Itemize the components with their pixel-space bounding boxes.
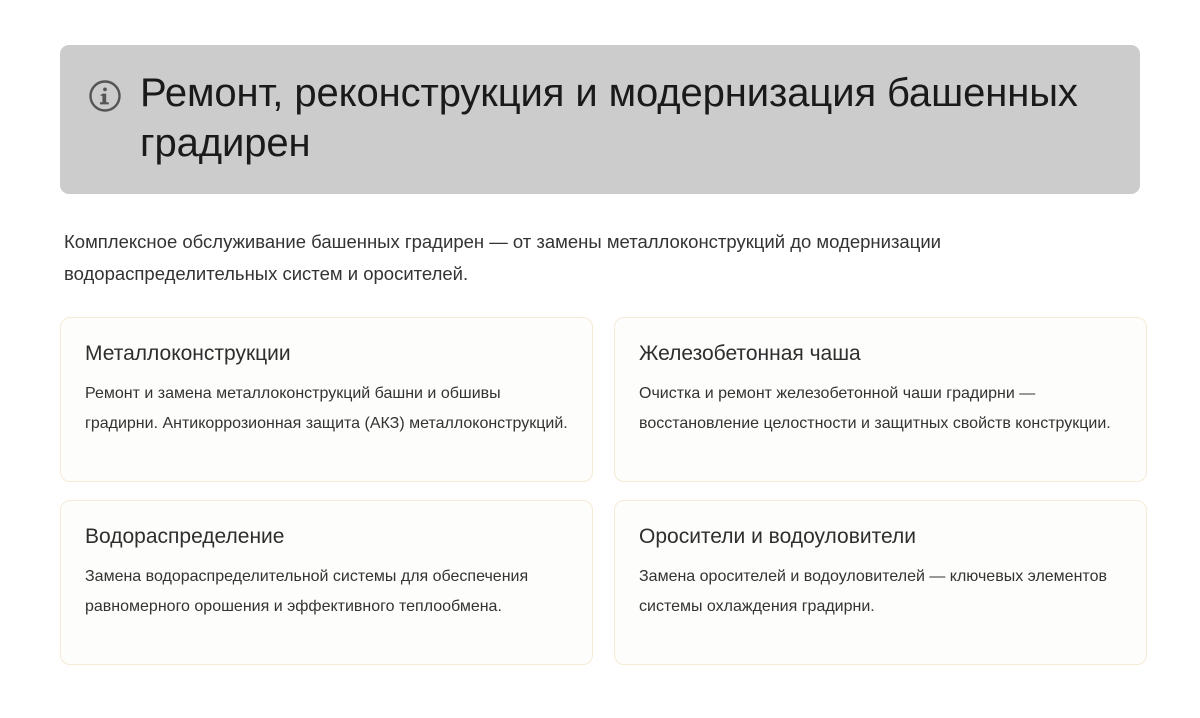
service-card: Железобетонная чаша Очистка и ремонт жел… [614,317,1147,482]
card-description: Замена оросителей и водоуловителей — клю… [639,562,1122,622]
page-title: Ремонт, реконструкция и модернизация баш… [140,69,1100,168]
header-banner: Ремонт, реконструкция и модернизация баш… [60,45,1140,194]
info-circle-icon [88,79,122,113]
card-description: Очистка и ремонт железобетонной чаши гра… [639,379,1122,439]
service-card: Оросители и водоуловители Замена оросите… [614,500,1147,665]
card-description: Ремонт и замена металлоконструкций башни… [85,379,568,439]
page-root: Ремонт, реконструкция и модернизация баш… [0,0,1200,718]
service-card: Металлоконструкции Ремонт и замена метал… [60,317,593,482]
card-description: Замена водораспределительной системы для… [85,562,568,622]
service-card: Водораспределение Замена водораспределит… [60,500,593,665]
card-title: Оросители и водоуловители [639,523,1122,550]
service-cards-grid: Металлоконструкции Ремонт и замена метал… [60,317,1140,665]
intro-paragraph: Комплексное обслуживание башенных градир… [64,226,1064,290]
card-title: Металлоконструкции [85,340,568,367]
card-title: Железобетонная чаша [639,340,1122,367]
card-title: Водораспределение [85,523,568,550]
